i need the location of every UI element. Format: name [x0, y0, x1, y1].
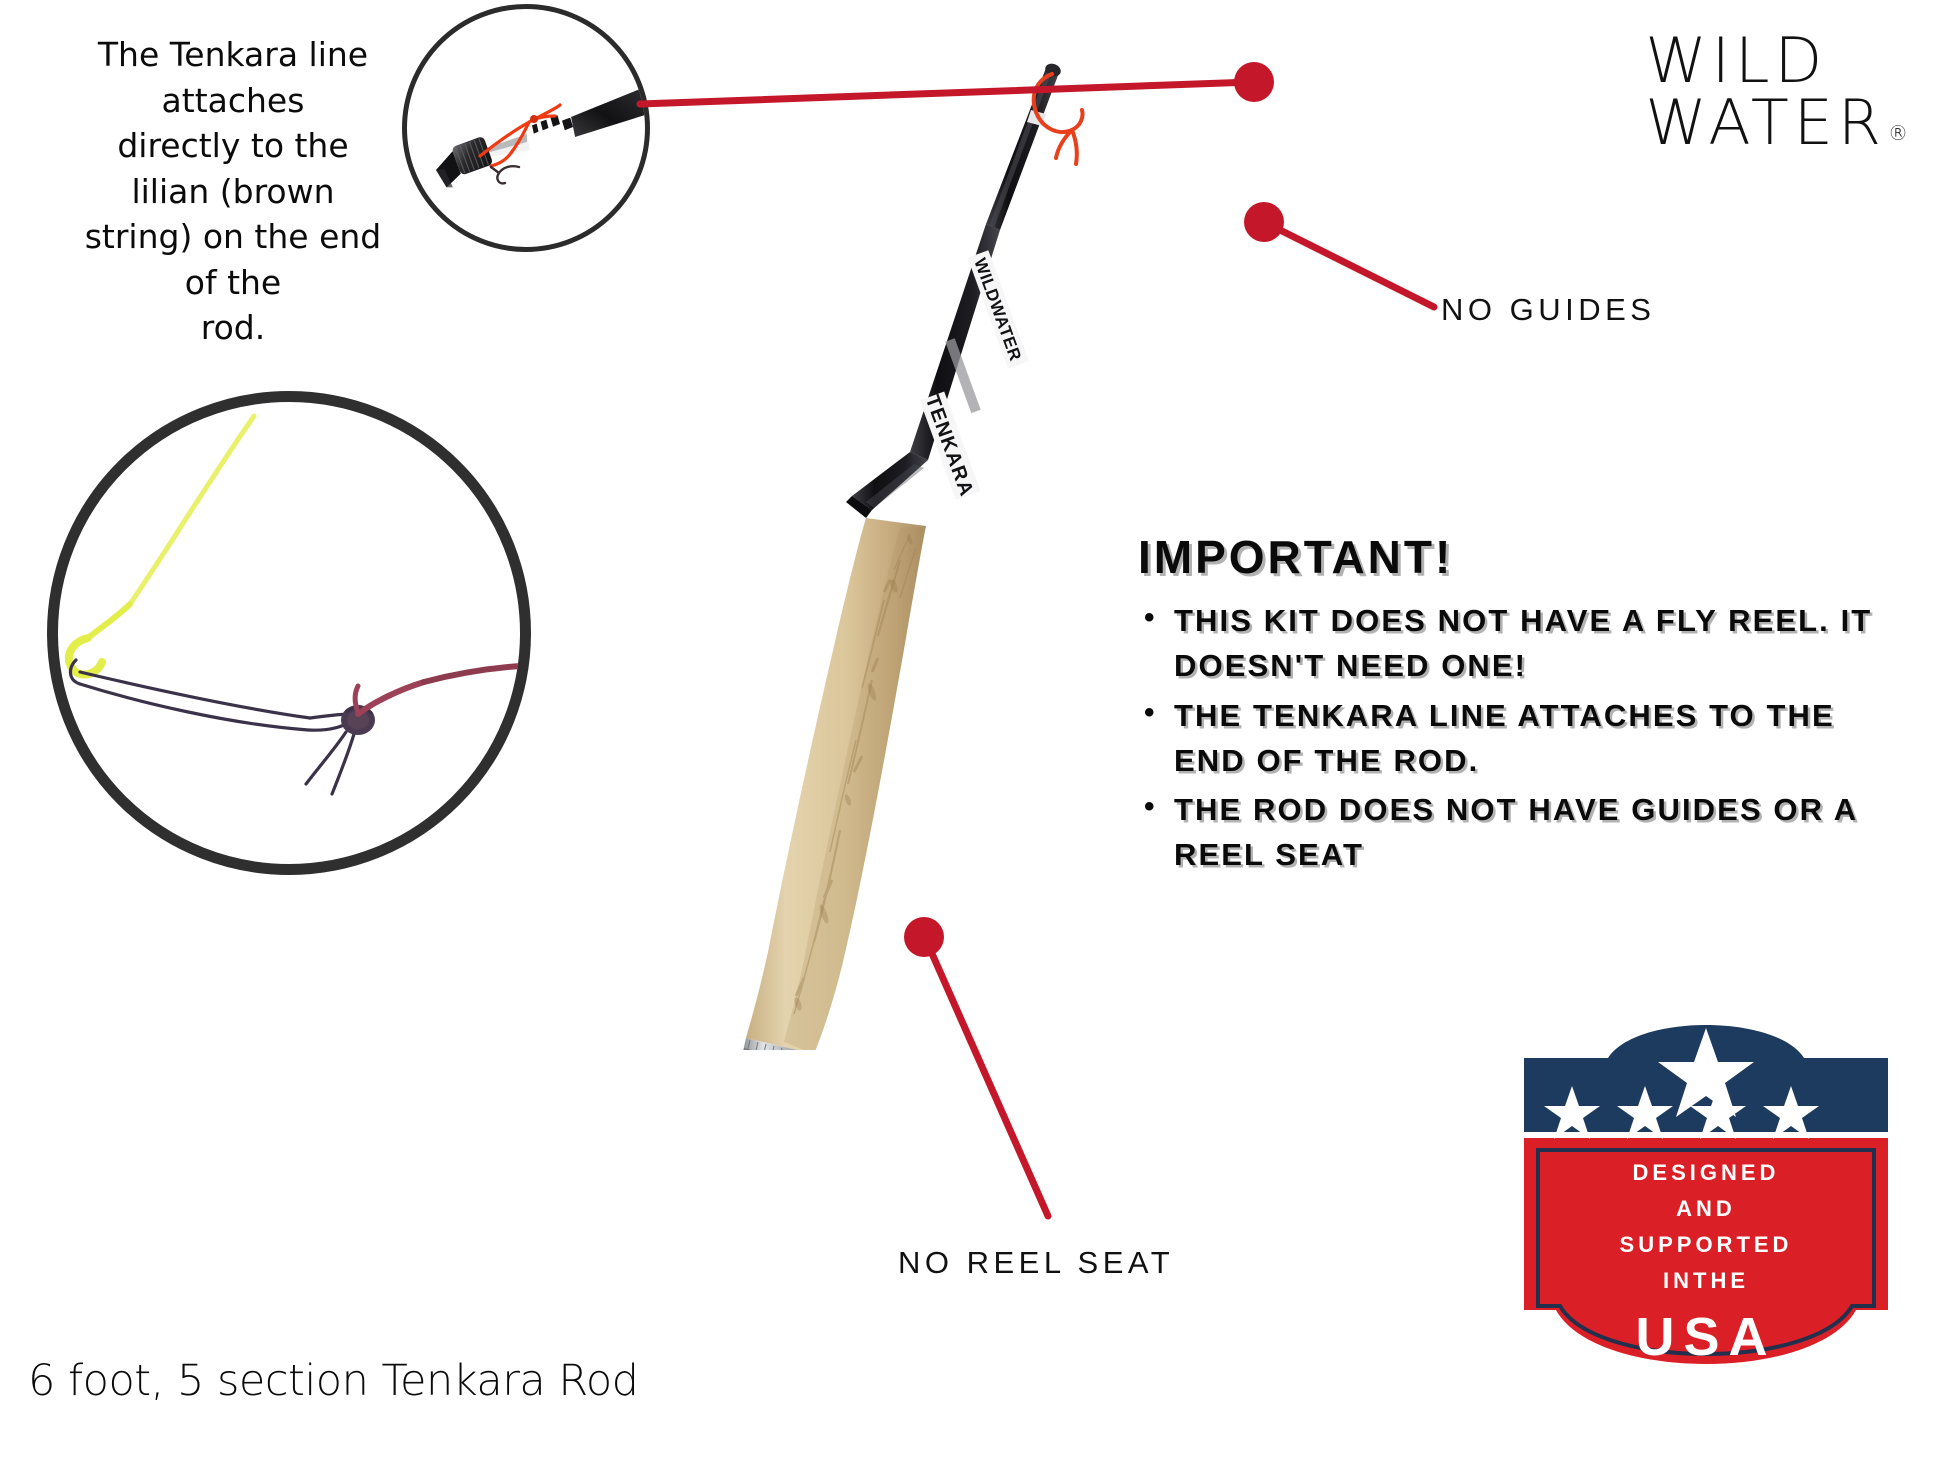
product-caption: 6 foot, 5 section Tenkara Rod: [28, 1356, 638, 1406]
no-reel-seat-callout-line: [898, 910, 1118, 1240]
line-knot-detail-circle: [47, 391, 531, 875]
list-item: THE ROD DOES NOT HAVE GUIDES OR A REEL S…: [1138, 787, 1878, 878]
line-knot-detail-clip: [58, 402, 520, 864]
tenkara-rod-illustration: WILDWATER TENKARA: [480, 40, 1120, 1050]
logo-line-wild: WILD: [1645, 30, 1908, 92]
important-heading: IMPORTANT!: [1138, 530, 1878, 584]
no-guides-callout-line: [1238, 185, 1468, 320]
no-guides-callout-dot: [1244, 202, 1284, 242]
list-item: THE TENKARA LINE ATTACHES TO THE END OF …: [1138, 693, 1878, 784]
wild-water-logo: WILD WATER®: [1645, 30, 1908, 154]
logo-line-water-text: WATER: [1645, 86, 1886, 159]
rod-shaft-brand-text: WILDWATER: [970, 256, 1025, 364]
line-knot-detail-illustration: [58, 402, 520, 864]
usa-badge-shape: [1516, 1010, 1896, 1410]
important-notice-block: IMPORTANT! THIS KIT DOES NOT HAVE A FLY …: [1138, 530, 1878, 882]
designed-in-usa-badge: DESIGNED AND SUPPORTED INTHE USA: [1516, 1010, 1896, 1410]
registered-mark-icon: ®: [1888, 121, 1908, 145]
intro-paragraph: The Tenkara line attaches directly to th…: [58, 32, 408, 351]
no-reel-seat-label: NO REEL SEAT: [898, 1245, 1174, 1281]
no-guides-label: NO GUIDES: [1441, 292, 1655, 328]
lilian-callout-line: [636, 62, 1296, 122]
tenkara-rod-infographic: The Tenkara line attaches directly to th…: [0, 0, 1946, 1460]
important-bullet-list: THIS KIT DOES NOT HAVE A FLY REEL. IT DO…: [1138, 598, 1878, 878]
logo-line-water: WATER®: [1645, 92, 1908, 154]
no-reel-seat-callout-dot: [904, 917, 944, 957]
lilian-callout-dot: [1234, 62, 1274, 102]
list-item: THIS KIT DOES NOT HAVE A FLY REEL. IT DO…: [1138, 598, 1878, 689]
